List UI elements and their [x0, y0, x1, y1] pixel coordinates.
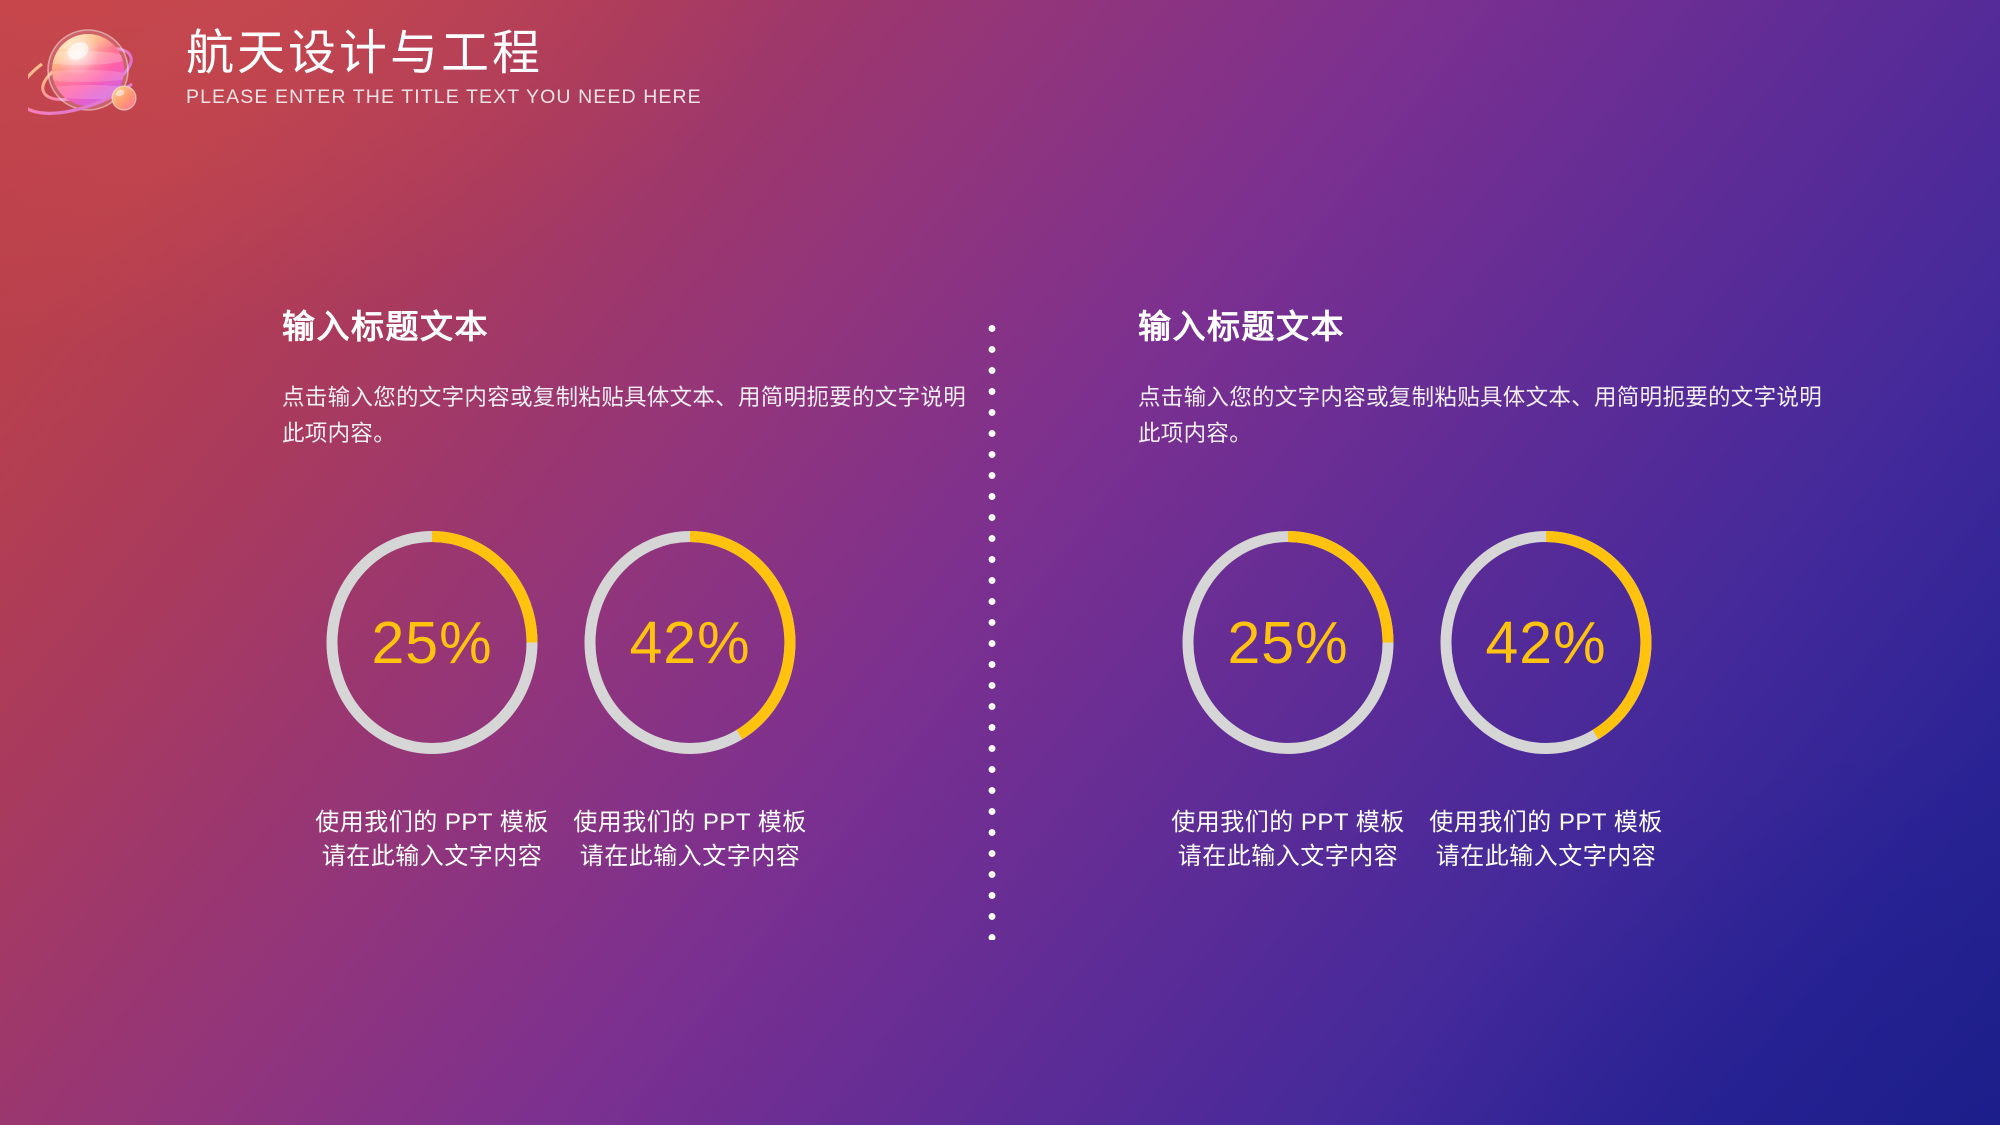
donut-caption-line-1: 使用我们的 PPT 模板	[1171, 806, 1405, 840]
donut-caption-line-2: 请在此输入文字内容	[573, 840, 807, 874]
page-title: 航天设计与工程	[186, 28, 702, 80]
donut-chart-25: 25%	[1177, 525, 1399, 760]
donut-chart-item[interactable]: 42% 使用我们的 PPT 模板 请在此输入文字内容	[1396, 525, 1696, 874]
donut-caption-line-1: 使用我们的 PPT 模板	[1429, 806, 1663, 840]
donut-caption-line-2: 请在此输入文字内容	[315, 840, 549, 874]
donut-caption-line-2: 请在此输入文字内容	[1429, 840, 1663, 874]
planet-with-ring-icon	[28, 18, 150, 126]
donut-caption: 使用我们的 PPT 模板 请在此输入文字内容	[1429, 806, 1663, 874]
donut-caption-line-1: 使用我们的 PPT 模板	[573, 806, 807, 840]
donut-value-label: 25%	[1177, 525, 1399, 760]
donut-caption: 使用我们的 PPT 模板 请在此输入文字内容	[315, 806, 549, 874]
donut-value-label: 25%	[321, 525, 543, 760]
content-column-right: 输入标题文本 点击输入您的文字内容或复制粘贴具体文本、用简明扼要的文字说明此项内…	[1138, 300, 1838, 453]
donut-caption-line-1: 使用我们的 PPT 模板	[315, 806, 549, 840]
column-body-text: 点击输入您的文字内容或复制粘贴具体文本、用简明扼要的文字说明此项内容。	[1138, 380, 1828, 453]
donut-chart-row: 25% 使用我们的 PPT 模板 请在此输入文字内容 42%	[1138, 525, 1838, 874]
content-column-left: 输入标题文本 点击输入您的文字内容或复制粘贴具体文本、用简明扼要的文字说明此项内…	[282, 300, 982, 453]
donut-caption: 使用我们的 PPT 模板 请在此输入文字内容	[1171, 806, 1405, 874]
column-title: 输入标题文本	[1138, 300, 1838, 348]
donut-caption-line-2: 请在此输入文字内容	[1171, 840, 1405, 874]
column-title: 输入标题文本	[282, 300, 982, 348]
donut-chart-item[interactable]: 25% 使用我们的 PPT 模板 请在此输入文字内容	[282, 525, 582, 874]
donut-chart-42: 42%	[579, 525, 801, 760]
donut-chart-row: 25% 使用我们的 PPT 模板 请在此输入文字内容 42%	[282, 525, 982, 874]
donut-chart-item[interactable]: 25% 使用我们的 PPT 模板 请在此输入文字内容	[1138, 525, 1438, 874]
page-subtitle: PLEASE ENTER THE TITLE TEXT YOU NEED HER…	[186, 86, 702, 109]
donut-chart-42: 42%	[1435, 525, 1657, 760]
column-body-text: 点击输入您的文字内容或复制粘贴具体文本、用简明扼要的文字说明此项内容。	[282, 380, 972, 453]
donut-caption: 使用我们的 PPT 模板 请在此输入文字内容	[573, 806, 807, 874]
donut-chart-item[interactable]: 42% 使用我们的 PPT 模板 请在此输入文字内容	[540, 525, 840, 874]
title-block: 航天设计与工程 PLEASE ENTER THE TITLE TEXT YOU …	[186, 28, 702, 109]
donut-value-label: 42%	[1435, 525, 1657, 760]
donut-value-label: 42%	[579, 525, 801, 760]
presentation-slide: 航天设计与工程 PLEASE ENTER THE TITLE TEXT YOU …	[0, 0, 2000, 1125]
donut-chart-25: 25%	[321, 525, 543, 760]
content-columns: 输入标题文本 点击输入您的文字内容或复制粘贴具体文本、用简明扼要的文字说明此项内…	[0, 0, 2000, 1125]
